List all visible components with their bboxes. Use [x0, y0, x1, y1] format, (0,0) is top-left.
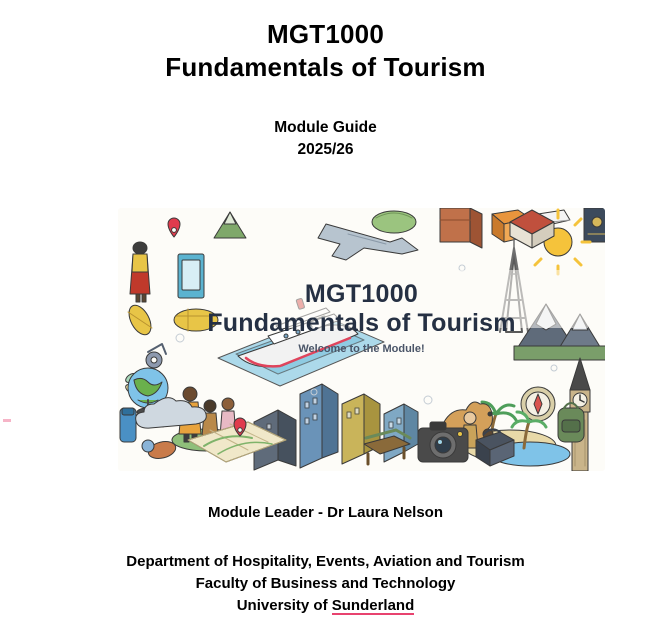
university-label: University of Sunderland	[0, 595, 651, 617]
module-leader-label: Module Leader - Dr Laura Nelson	[0, 504, 651, 521]
module-leader-block: Module Leader - Dr Laura Nelson	[0, 504, 651, 521]
document-subtitle: Module Guide 2025/26	[0, 117, 651, 161]
affiliation-block: Department of Hospitality, Events, Aviat…	[0, 551, 651, 617]
camera-icon	[418, 422, 468, 462]
module-name-heading: Fundamentals of Tourism	[0, 51, 651, 84]
thermos-icon	[120, 408, 136, 442]
suitcase-icon	[440, 208, 482, 248]
module-code-heading: MGT1000	[0, 18, 651, 51]
backpack-icon	[558, 403, 584, 442]
document-page: MGT1000 Fundamentals of Tourism Module G…	[0, 0, 651, 643]
cover-illustration-artwork	[118, 208, 605, 471]
revision-change-bar	[3, 419, 11, 422]
university-prefix: University of	[237, 597, 332, 614]
academic-year-label: 2025/26	[0, 139, 651, 161]
hotel-icon	[178, 254, 204, 298]
document-type-label: Module Guide	[0, 117, 651, 139]
university-name-misspelled[interactable]: Sunderland	[332, 597, 415, 615]
cover-illustration: MGT1000 Fundamentals of Tourism Welcome …	[118, 208, 605, 471]
department-label: Department of Hospitality, Events, Aviat…	[0, 551, 651, 573]
page-title: MGT1000 Fundamentals of Tourism	[0, 18, 651, 85]
faculty-label: Faculty of Business and Technology	[0, 573, 651, 595]
passport-icon	[584, 208, 605, 242]
backpack-icon	[372, 211, 416, 233]
suitcase-icon	[174, 309, 218, 331]
